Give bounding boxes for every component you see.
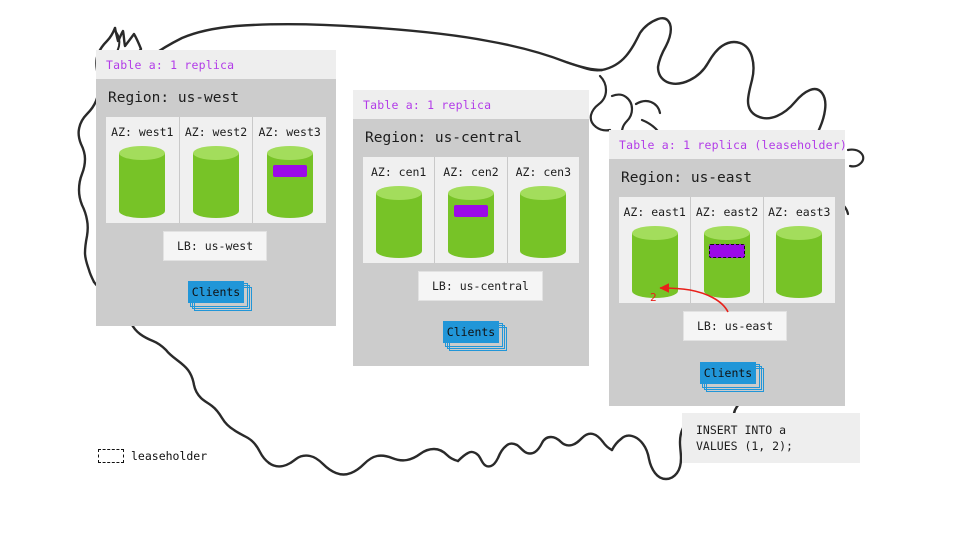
node-cylinder-west3[interactable] (267, 146, 313, 213)
cylinder-top (376, 186, 422, 200)
cylinder-body (119, 153, 165, 211)
az-row: AZ: east1 AZ: east2 (619, 197, 835, 303)
cylinder-body (776, 233, 822, 291)
clients-button-label[interactable]: Clients (700, 362, 756, 384)
cylinder-body (520, 193, 566, 251)
az-label: AZ: cen3 (516, 165, 571, 179)
node-cylinder-west1[interactable] (119, 146, 165, 213)
cylinder-body (632, 233, 678, 291)
diagram-canvas: Table a: 1 replica Region: us-west AZ: w… (0, 0, 960, 540)
az-cell-east2[interactable]: AZ: east2 (690, 197, 762, 303)
cylinder-top (448, 186, 494, 200)
leaseholder-swatch-icon (98, 449, 124, 463)
clients-button-us-east[interactable]: Clients (700, 362, 756, 384)
legend-label: leaseholder (131, 449, 207, 463)
cylinder-top (776, 226, 822, 240)
az-cell-cen1[interactable]: AZ: cen1 (363, 157, 434, 263)
clients-button-us-central[interactable]: Clients (443, 321, 499, 343)
cylinder-top (704, 226, 750, 240)
az-label: AZ: west3 (259, 125, 321, 139)
az-label: AZ: cen2 (443, 165, 498, 179)
az-label: AZ: east2 (696, 205, 758, 219)
load-balancer-us-west[interactable]: LB: us-west (163, 231, 267, 261)
load-balancer-us-central[interactable]: LB: us-central (418, 271, 543, 301)
cylinder-body (448, 193, 494, 251)
az-cell-west2[interactable]: AZ: west2 (179, 117, 253, 223)
node-cylinder-east1[interactable] (632, 226, 678, 293)
node-cylinder-cen2[interactable] (448, 186, 494, 253)
clients-button-label[interactable]: Clients (188, 281, 244, 303)
az-cell-cen3[interactable]: AZ: cen3 (507, 157, 579, 263)
cylinder-top (267, 146, 313, 160)
az-row: AZ: west1 AZ: west2 AZ (106, 117, 326, 223)
cylinder-body (704, 233, 750, 291)
routing-arrow-step-label: 2 (650, 291, 657, 304)
replica-marker (454, 205, 488, 217)
region-title: Region: us-east (609, 159, 845, 197)
az-label: AZ: cen1 (371, 165, 426, 179)
az-label: AZ: east1 (624, 205, 686, 219)
node-cylinder-cen3[interactable] (520, 186, 566, 253)
az-cell-west3[interactable]: AZ: west3 (252, 117, 326, 223)
legend: leaseholder (98, 449, 207, 463)
az-cell-east3[interactable]: AZ: east3 (763, 197, 835, 303)
cylinder-top (193, 146, 239, 160)
az-row: AZ: cen1 AZ: cen2 (363, 157, 579, 263)
clients-button-label[interactable]: Clients (443, 321, 499, 343)
replica-marker (273, 165, 307, 177)
az-cell-cen2[interactable]: AZ: cen2 (434, 157, 506, 263)
replica-marker-leaseholder (709, 244, 745, 258)
node-cylinder-cen1[interactable] (376, 186, 422, 253)
cylinder-top (119, 146, 165, 160)
node-cylinder-east2[interactable] (704, 226, 750, 293)
az-label: AZ: west1 (111, 125, 173, 139)
node-cylinder-west2[interactable] (193, 146, 239, 213)
panel-header-table-info: Table a: 1 replica (96, 50, 336, 79)
az-label: AZ: east3 (768, 205, 830, 219)
panel-header-table-info: Table a: 1 replica (353, 90, 589, 119)
clients-button-us-west[interactable]: Clients (188, 281, 244, 303)
panel-header-table-info: Table a: 1 replica (leaseholder) (609, 130, 845, 159)
az-cell-east1[interactable]: AZ: east1 (619, 197, 690, 303)
cylinder-body (376, 193, 422, 251)
az-label: AZ: west2 (185, 125, 247, 139)
load-balancer-us-east[interactable]: LB: us-east (683, 311, 787, 341)
region-title: Region: us-central (353, 119, 589, 157)
az-cell-west1[interactable]: AZ: west1 (106, 117, 179, 223)
region-title: Region: us-west (96, 79, 336, 117)
node-cylinder-east3[interactable] (776, 226, 822, 293)
cylinder-body (193, 153, 239, 211)
cylinder-top (520, 186, 566, 200)
cylinder-top (632, 226, 678, 240)
cylinder-body (267, 153, 313, 211)
sql-statement-callout: INSERT INTO a VALUES (1, 2); (682, 413, 860, 463)
